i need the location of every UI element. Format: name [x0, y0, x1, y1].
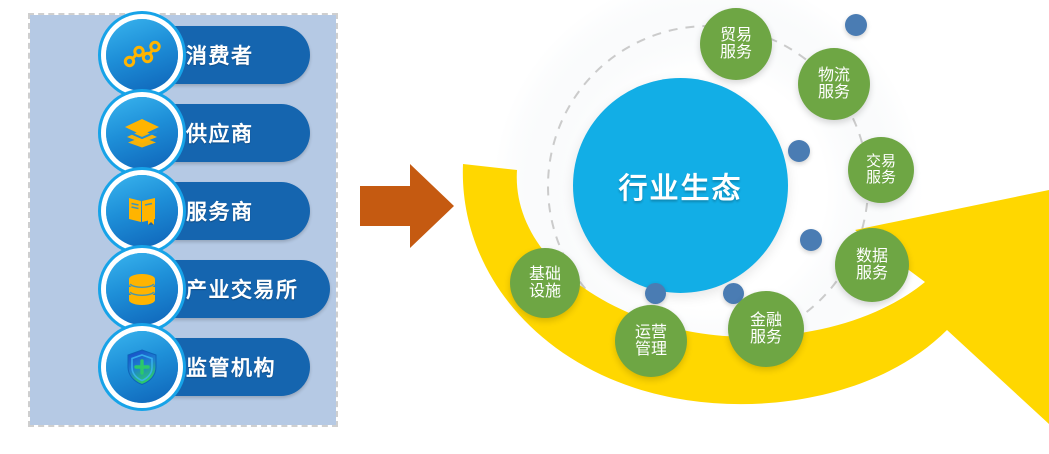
role-badge-exchange[interactable] — [106, 253, 178, 325]
role-label-regulator: 监管机构 — [186, 352, 276, 382]
database-stack-icon — [124, 272, 160, 306]
service-node-financial-line1: 金融 — [750, 312, 782, 329]
role-badge-regulator[interactable] — [106, 331, 178, 403]
service-node-logistics-line2: 服务 — [818, 84, 850, 101]
service-node-transaction-line1: 交易 — [866, 154, 896, 170]
service-node-trade-line1: 贸易 — [720, 27, 752, 44]
dot-top-right — [845, 14, 867, 36]
industry-chain-panel: 消费者 供应商 — [30, 15, 336, 425]
service-node-data[interactable]: 数据 服务 — [835, 228, 909, 302]
service-node-logistics[interactable]: 物流 服务 — [798, 48, 870, 120]
service-node-trade-line2: 服务 — [720, 44, 752, 61]
service-node-logistics-line1: 物流 — [818, 67, 850, 84]
core-label: 行业生态 — [618, 165, 742, 207]
service-node-infrastructure[interactable]: 基础 设施 — [510, 248, 580, 318]
orange-right-arrow — [358, 160, 458, 257]
dot-bottom-left — [645, 283, 666, 304]
service-node-data-line2: 服务 — [856, 265, 888, 282]
core-circle-industry-ecosystem[interactable]: 行业生态 — [573, 78, 788, 293]
service-node-financial[interactable]: 金融 服务 — [728, 291, 804, 367]
open-book-icon — [124, 194, 160, 228]
service-node-data-line1: 数据 — [856, 248, 888, 265]
role-label-service-provider: 服务商 — [186, 196, 254, 226]
service-node-financial-line2: 服务 — [750, 329, 782, 346]
diagram-canvas: 消费者 供应商 — [0, 0, 1049, 454]
role-badge-service-provider[interactable] — [106, 175, 178, 247]
service-node-infrastructure-line2: 设施 — [529, 283, 561, 300]
service-node-trade[interactable]: 贸易 服务 — [700, 8, 772, 80]
service-node-infrastructure-line1: 基础 — [529, 266, 561, 283]
ecosystem-cluster: 行业生态 贸易 服务 物流 服务 交易 服务 数据 服务 金融 服务 — [455, 0, 1049, 454]
role-label-supplier: 供应商 — [186, 118, 254, 148]
role-label-consumer: 消费者 — [186, 40, 254, 70]
service-node-operations-line1: 运营 — [635, 324, 667, 341]
network-nodes-icon — [122, 39, 162, 71]
role-badge-supplier[interactable] — [106, 97, 178, 169]
service-node-transaction[interactable]: 交易 服务 — [848, 137, 914, 203]
dot-mid-right — [788, 140, 810, 162]
dot-center-right — [800, 229, 822, 251]
shield-plus-icon — [125, 348, 159, 386]
layers-stack-icon — [123, 117, 161, 149]
role-badge-consumer[interactable] — [106, 19, 178, 91]
service-node-transaction-line2: 服务 — [866, 170, 896, 186]
service-node-operations-line2: 管理 — [635, 341, 667, 358]
service-node-operations[interactable]: 运营 管理 — [615, 305, 687, 377]
role-label-exchange: 产业交易所 — [186, 274, 299, 304]
